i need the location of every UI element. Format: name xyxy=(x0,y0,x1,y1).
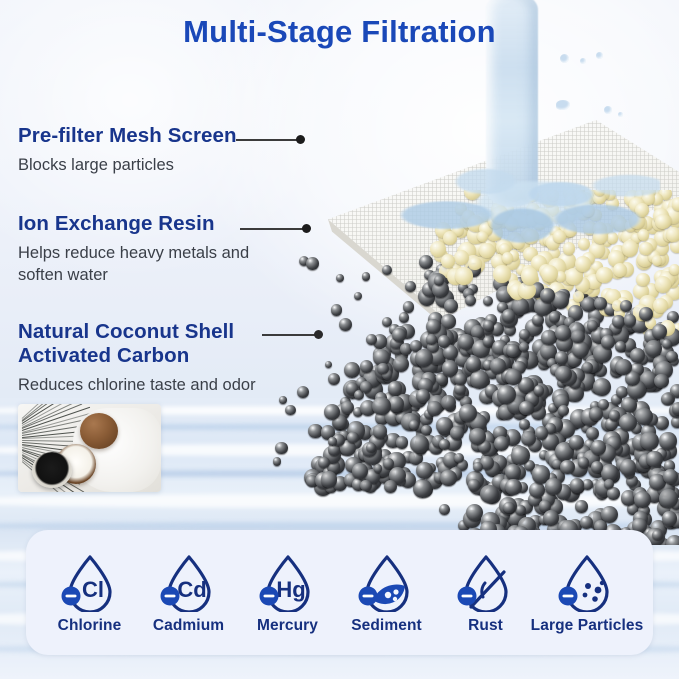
resin-bead xyxy=(652,255,663,266)
carbon-granule xyxy=(442,360,459,377)
contaminant-badge-label: Large Particles xyxy=(531,617,644,635)
carbon-granule xyxy=(612,315,624,327)
contaminant-badge-sediment[interactable]: Sediment xyxy=(337,550,436,635)
carbon-granule xyxy=(494,436,509,451)
stage-1-description: Blocks large particles xyxy=(18,155,237,177)
carbon-granule xyxy=(555,351,568,364)
carbon-granule xyxy=(575,500,587,512)
water-drop-blocked-icon: Cd xyxy=(157,550,221,612)
resin-bead xyxy=(653,298,668,313)
carbon-granule xyxy=(416,462,433,479)
carbon-granule xyxy=(321,471,338,488)
carbon-granule xyxy=(659,432,676,449)
carbon-granule xyxy=(318,457,330,469)
carbon-granule xyxy=(519,419,529,429)
carbon-granule xyxy=(571,330,584,343)
water-drop-sediment-icon xyxy=(355,550,419,612)
carbon-granule xyxy=(427,401,442,416)
stage-3-heading: Natural Coconut Shell Activated Carbon xyxy=(18,320,256,368)
stage-3-description: Reduces chlorine taste and odor xyxy=(18,375,256,397)
stage-block-pre-filter: Pre-filter Mesh Screen Blocks large part… xyxy=(18,124,237,177)
carbon-granule xyxy=(511,446,530,465)
carbon-granule xyxy=(331,304,343,316)
carbon-granule xyxy=(459,404,477,422)
contaminant-badge-mercury[interactable]: HgMercury xyxy=(238,550,337,635)
leader-line-stage-1 xyxy=(236,139,298,141)
coconut-carbon-inset-photo xyxy=(18,404,161,492)
carbon-granule xyxy=(662,339,672,349)
svg-text:Cl: Cl xyxy=(82,577,104,602)
carbon-granule xyxy=(672,402,679,415)
carbon-granule xyxy=(662,511,676,525)
carbon-granule xyxy=(415,349,433,367)
carbon-granule xyxy=(328,373,341,386)
carbon-granule xyxy=(454,373,466,385)
stage-block-activated-carbon: Natural Coconut Shell Activated Carbon R… xyxy=(18,320,256,397)
carbon-granule xyxy=(519,401,533,415)
carbon-granule xyxy=(360,360,373,373)
carbon-granule xyxy=(416,389,430,403)
svg-text:Cd: Cd xyxy=(177,577,206,602)
carbon-granule xyxy=(591,440,606,455)
resin-bead xyxy=(541,265,558,282)
resin-bead xyxy=(493,265,511,283)
carbon-granule xyxy=(654,374,669,389)
carbon-granule xyxy=(666,535,679,545)
contaminant-badge-chlorine[interactable]: ClChlorine xyxy=(40,550,139,635)
carbon-granule xyxy=(483,320,494,331)
carbon-granule xyxy=(399,312,410,323)
resin-bead xyxy=(575,256,591,272)
carbon-granule xyxy=(534,385,544,395)
carbon-granule xyxy=(555,325,571,341)
carbon-granule xyxy=(325,361,332,368)
contaminant-badge-label: Cadmium xyxy=(153,617,224,635)
carbon-granule xyxy=(607,487,620,500)
carbon-granule xyxy=(635,408,653,426)
carbon-granule xyxy=(392,328,406,342)
contaminant-badge-panel: ClChlorineCdCadmiumHgMercurySedimentRust… xyxy=(26,530,653,655)
carbon-granule xyxy=(473,462,483,472)
carbon-granule xyxy=(529,482,545,498)
carbon-granule xyxy=(372,397,390,415)
carbon-granule xyxy=(403,301,415,313)
stage-3-heading-line-1: Natural Coconut Shell xyxy=(18,320,234,343)
carbon-granule xyxy=(405,281,416,292)
carbon-granule xyxy=(483,296,493,306)
carbon-granule xyxy=(438,335,451,348)
carbon-granule xyxy=(409,420,419,430)
carbon-granule xyxy=(535,426,548,439)
resin-bead xyxy=(596,267,612,283)
carbon-granule xyxy=(347,432,358,443)
contaminant-badge-label: Chlorine xyxy=(58,617,122,635)
carbon-granule xyxy=(465,295,477,307)
carbon-granule xyxy=(640,432,659,451)
carbon-granule xyxy=(470,370,489,389)
carbon-granule xyxy=(373,424,387,438)
resin-bead xyxy=(455,267,472,284)
carbon-granule xyxy=(440,470,457,487)
stage-2-heading: Ion Exchange Resin xyxy=(18,212,270,236)
water-splash xyxy=(400,150,660,255)
carbon-granule xyxy=(663,469,678,484)
contaminant-badge-label: Rust xyxy=(468,617,503,635)
carbon-granule xyxy=(306,257,319,270)
filtration-infographic: Multi-Stage Filtration Pre-filter Mesh S… xyxy=(0,0,679,679)
carbon-granule xyxy=(593,378,611,396)
carbon-granule xyxy=(388,381,402,395)
carbon-granule xyxy=(468,479,480,491)
carbon-granule xyxy=(382,317,392,327)
carbon-granule xyxy=(384,480,397,493)
stage-3-heading-line-2: Activated Carbon xyxy=(18,344,189,367)
water-droplet xyxy=(580,58,586,64)
leader-dot-stage-3 xyxy=(314,330,323,339)
carbon-granule xyxy=(594,297,607,310)
leader-dot-stage-2 xyxy=(302,224,311,233)
carbon-granule xyxy=(328,437,336,445)
carbon-granule xyxy=(515,505,525,515)
carbon-granule xyxy=(439,504,450,515)
carbon-granule xyxy=(652,530,662,540)
carbon-granule xyxy=(620,459,636,475)
carbon-granule xyxy=(545,478,561,494)
carbon-granule xyxy=(285,405,295,415)
carbon-granule xyxy=(589,407,603,421)
carbon-granule xyxy=(519,329,530,340)
carbon-granule xyxy=(360,381,372,393)
carbon-granule xyxy=(273,457,282,466)
resin-bead xyxy=(672,197,679,211)
resin-bead xyxy=(636,273,649,286)
carbon-granule xyxy=(609,410,619,420)
carbon-granule xyxy=(444,299,458,313)
resin-bead xyxy=(666,227,679,241)
carbon-granule xyxy=(396,436,408,448)
carbon-granule xyxy=(578,457,589,468)
resin-bead xyxy=(521,267,538,284)
water-droplet xyxy=(618,112,623,117)
carbon-granule xyxy=(490,358,506,374)
page-title: Multi-Stage Filtration xyxy=(0,14,679,50)
water-droplet xyxy=(604,106,612,114)
carbon-granule xyxy=(279,396,286,403)
carbon-granule xyxy=(339,318,352,331)
carbon-granule xyxy=(421,425,432,436)
leader-dot-stage-1 xyxy=(296,135,305,144)
carbon-granule xyxy=(506,344,520,358)
carbon-granule xyxy=(601,335,615,349)
carbon-granule xyxy=(572,341,589,358)
carbon-granule xyxy=(354,292,362,300)
carbon-granule xyxy=(652,324,667,339)
carbon-granule xyxy=(483,336,493,346)
water-drop-blocked-icon: Hg xyxy=(256,550,320,612)
carbon-granule xyxy=(646,451,662,467)
carbon-granule xyxy=(336,274,345,283)
water-drop-blocked-icon: Cl xyxy=(58,550,122,612)
carbon-granule xyxy=(297,386,309,398)
carbon-granule xyxy=(480,485,499,504)
carbon-granule xyxy=(324,404,340,420)
resin-bead xyxy=(669,264,679,276)
contaminant-badge-list: ClChlorineCdCadmiumHgMercurySedimentRust… xyxy=(26,530,653,655)
resin-bead xyxy=(613,263,627,277)
carbon-granule xyxy=(393,356,410,373)
carbon-granule xyxy=(502,309,515,322)
carbon-granule xyxy=(419,255,433,269)
carbon-granule xyxy=(450,426,464,440)
carbon-granule xyxy=(645,340,662,357)
water-drop-rust-icon xyxy=(454,550,518,612)
carbon-granule xyxy=(591,461,603,473)
svg-text:Hg: Hg xyxy=(276,577,305,602)
carbon-granule xyxy=(615,341,626,352)
carbon-granule xyxy=(555,366,571,382)
carbon-granule xyxy=(558,405,569,416)
carbon-granule xyxy=(549,311,561,323)
carbon-granule xyxy=(360,480,371,491)
contaminant-badge-label: Sediment xyxy=(351,617,422,635)
carbon-granule xyxy=(639,307,653,321)
water-droplet xyxy=(560,54,569,63)
carbon-granule xyxy=(505,479,521,495)
carbon-granule xyxy=(382,265,392,275)
carbon-granule xyxy=(362,272,370,280)
carbon-granule xyxy=(586,427,599,440)
contaminant-badge-rust[interactable]: Rust xyxy=(436,550,535,635)
carbon-granule xyxy=(410,435,429,454)
carbon-granule xyxy=(505,464,521,480)
stage-2-description: Helps reduce heavy metals and soften wat… xyxy=(18,243,270,287)
carbon-granule xyxy=(615,359,631,375)
carbon-granule xyxy=(366,334,377,345)
carbon-granule xyxy=(659,489,678,508)
contaminant-badge-cadmium[interactable]: CdCadmium xyxy=(139,550,238,635)
carbon-granule xyxy=(413,479,431,497)
carbon-granule xyxy=(587,320,598,331)
stage-1-heading: Pre-filter Mesh Screen xyxy=(18,124,237,148)
resin-bead xyxy=(655,276,671,292)
carbon-granule xyxy=(560,460,574,474)
carbon-granule xyxy=(512,298,528,314)
leader-line-stage-3 xyxy=(262,334,320,336)
carbon-granule xyxy=(366,443,375,452)
carbon-granule xyxy=(341,401,354,414)
contaminant-badge-large-particles[interactable]: Large Particles xyxy=(535,550,639,635)
carbon-granule xyxy=(275,442,287,454)
resin-bead xyxy=(441,254,455,268)
carbon-granule xyxy=(441,395,456,410)
water-drop-particles-icon xyxy=(555,550,619,612)
carbon-granule xyxy=(619,414,637,432)
carbon-granule xyxy=(624,314,636,326)
whole-coconut xyxy=(80,413,118,449)
carbon-granule xyxy=(630,348,645,363)
stage-block-ion-exchange: Ion Exchange Resin Helps reduce heavy me… xyxy=(18,212,270,287)
carbon-granule xyxy=(666,351,677,362)
carbon-granule xyxy=(344,362,360,378)
contaminant-badge-label: Mercury xyxy=(257,617,318,635)
carbon-granule xyxy=(497,385,516,404)
activated-carbon-bowl xyxy=(32,452,72,488)
carbon-granule xyxy=(377,363,388,374)
carbon-granule xyxy=(469,428,486,445)
water-droplet xyxy=(596,52,603,59)
